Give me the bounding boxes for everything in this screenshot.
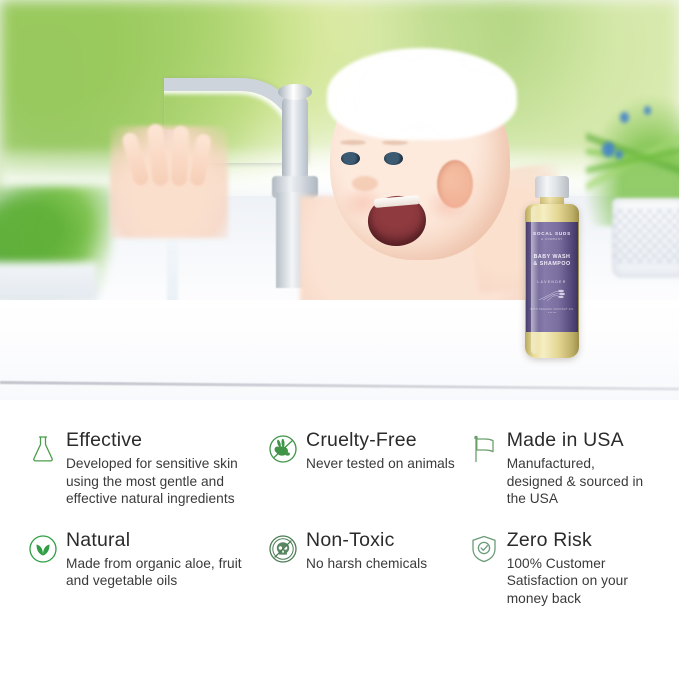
feature-non-toxic: Non-Toxic No harsh chemicals [266, 530, 467, 608]
feature-title: Zero Risk [507, 530, 653, 552]
feature-made-in-usa: Made in USA Manufactured, designed & sou… [467, 430, 653, 508]
baby-brow [382, 140, 408, 145]
soap-suds-icon [327, 48, 517, 140]
pot-left [0, 262, 98, 302]
feature-title: Effective [66, 430, 266, 452]
feature-text: Effective Developed for sensitive skin u… [60, 430, 266, 508]
baby-eye [384, 152, 403, 165]
feature-description: 100% Customer Satisfaction on your money… [507, 555, 653, 608]
feature-description: Manufactured, designed & sourced in the … [507, 455, 653, 508]
feature-description: Made from organic aloe, fruit and vegeta… [66, 555, 266, 590]
leaf-icon [26, 532, 60, 566]
feature-natural: Natural Made from organic aloe, fruit an… [26, 530, 266, 608]
label-size: 8 FL OZ [548, 312, 556, 314]
features-row-1: Effective Developed for sensitive skin u… [26, 430, 653, 508]
feature-text: Made in USA Manufactured, designed & sou… [501, 430, 653, 508]
feature-description: Never tested on animals [306, 455, 455, 473]
faucet-handle [282, 96, 308, 182]
feature-description: No harsh chemicals [306, 555, 427, 573]
bottle-cap [535, 176, 569, 198]
bottle-highlight [531, 206, 539, 354]
feature-description: Developed for sensitive skin using the m… [66, 455, 266, 508]
skull-crossed-out-icon [266, 532, 300, 566]
baby-nose [352, 176, 378, 191]
feature-effective: Effective Developed for sensitive skin u… [26, 430, 266, 508]
feature-text: Non-Toxic No harsh chemicals [300, 530, 427, 573]
brand-subtitle: & COMPANY [541, 238, 563, 241]
feature-title: Made in USA [507, 430, 653, 452]
feature-title: Natural [66, 530, 266, 552]
blue-flower-icon [644, 106, 651, 115]
feature-text: Natural Made from organic aloe, fruit an… [60, 530, 266, 590]
flag-icon [467, 432, 501, 466]
hero-photo: SOCAL SUDS & COMPANY BABY WASH & SHAMPOO… [0, 0, 679, 400]
baby-cheek [424, 188, 470, 222]
feature-title: Non-Toxic [306, 530, 427, 552]
baby-brow [340, 140, 366, 145]
blue-flower-icon [602, 142, 615, 157]
features-panel: Effective Developed for sensitive skin u… [0, 400, 679, 679]
product-scent: LAVENDER [537, 280, 566, 284]
rabbit-crossed-out-icon [266, 432, 300, 466]
product-bottle: SOCAL SUDS & COMPANY BABY WASH & SHAMPOO… [521, 176, 583, 358]
faucet-cap [278, 84, 312, 100]
pot-right [612, 198, 679, 278]
features-row-2: Natural Made from organic aloe, fruit an… [26, 530, 653, 608]
baby-eye [341, 152, 360, 165]
shield-check-icon [467, 532, 501, 566]
feature-text: Cruelty-Free Never tested on animals [300, 430, 455, 473]
lavender-sprig-icon [537, 289, 567, 302]
feature-title: Cruelty-Free [306, 430, 455, 452]
blue-flower-icon [615, 150, 623, 159]
product-name-line1: BABY WASH [534, 254, 571, 261]
feature-text: Zero Risk 100% Customer Satisfaction on … [501, 530, 653, 608]
product-marketing-image: SOCAL SUDS & COMPANY BABY WASH & SHAMPOO… [0, 0, 679, 679]
blue-flower-icon [620, 112, 629, 123]
feature-zero-risk: Zero Risk 100% Customer Satisfaction on … [467, 530, 653, 608]
flask-icon [26, 432, 60, 466]
baby-finger [171, 126, 189, 187]
feature-cruelty-free: Cruelty-Free Never tested on animals [266, 430, 467, 508]
